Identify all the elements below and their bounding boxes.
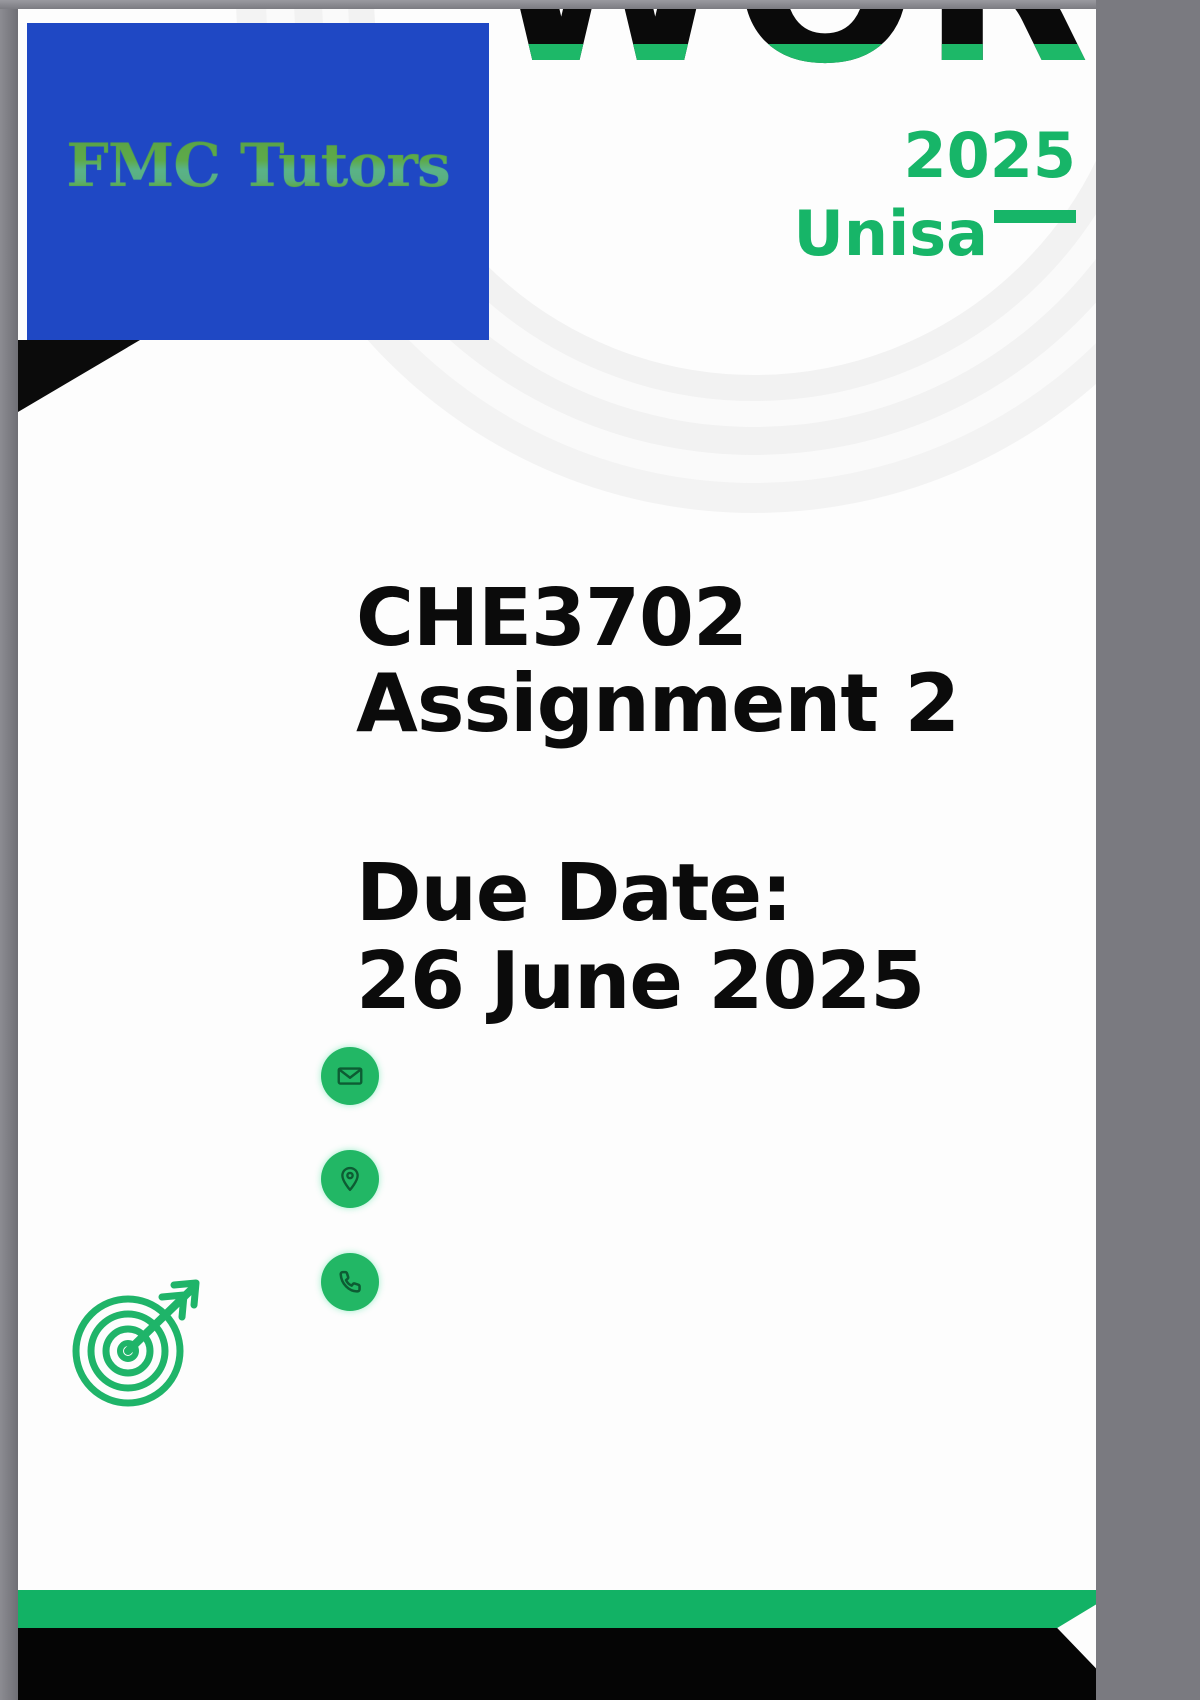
contact-email[interactable] xyxy=(321,1047,379,1105)
header-meta: 2025 Unisa xyxy=(746,119,1076,269)
due-date-value: 26 June 2025 xyxy=(356,937,1096,1025)
clipped-header-word-green-band: WORK xyxy=(488,44,1096,80)
logo-corner-wedge xyxy=(18,340,140,412)
document-page: WORK WORK FMC Tutors 2025 Unisa CHE3702 … xyxy=(18,9,1096,1700)
location-pin-icon xyxy=(335,1164,365,1194)
footer-green-bar xyxy=(18,1590,1096,1628)
contact-icon-stack xyxy=(321,1047,379,1356)
footer-black-bar xyxy=(18,1628,1096,1700)
phone-icon xyxy=(336,1268,365,1297)
due-date-label: Due Date: xyxy=(356,849,1096,937)
contact-location[interactable] xyxy=(321,1150,379,1208)
page-root: WORK WORK FMC Tutors 2025 Unisa CHE3702 … xyxy=(0,0,1200,1700)
title-block: CHE3702 Assignment 2 xyxy=(356,575,1076,747)
email-icon xyxy=(335,1061,365,1091)
year-label: 2025 xyxy=(746,119,1076,193)
window-frame-right xyxy=(1096,0,1200,1700)
window-frame-top xyxy=(0,0,1200,9)
clipped-header-word-green-text: WORK xyxy=(488,44,1096,80)
institution-label: Unisa xyxy=(794,199,988,269)
accent-dash xyxy=(994,210,1076,223)
course-code: CHE3702 xyxy=(356,575,1076,661)
brand-logo-text: FMC Tutors xyxy=(27,131,489,201)
target-arrow-icon xyxy=(66,1267,216,1407)
contact-phone[interactable] xyxy=(321,1253,379,1311)
assignment-title: Assignment 2 xyxy=(356,661,1076,747)
window-frame-left xyxy=(0,0,18,1700)
due-date-block: Due Date: 26 June 2025 xyxy=(356,849,1096,1025)
brand-logo-box: FMC Tutors xyxy=(27,23,489,340)
institution-row: Unisa xyxy=(746,199,1076,269)
